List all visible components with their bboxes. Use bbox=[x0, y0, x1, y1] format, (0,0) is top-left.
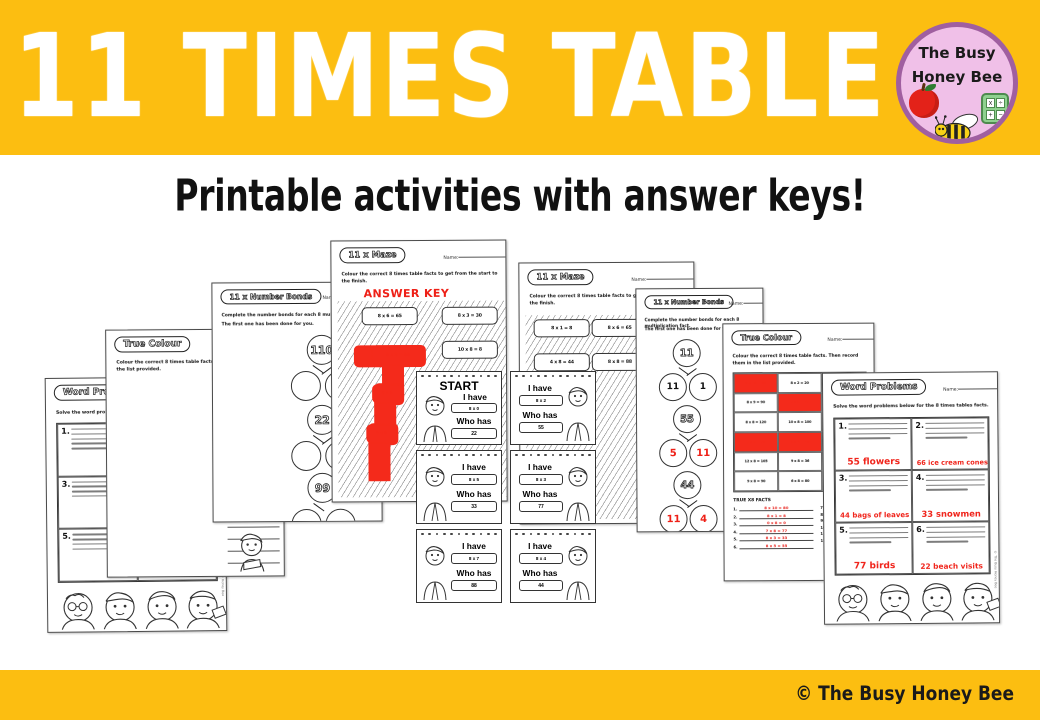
item-number: 2. bbox=[733, 514, 737, 519]
item-number: 3. bbox=[839, 474, 848, 483]
kids-illustration bbox=[58, 586, 226, 630]
who-has-label: Who has bbox=[513, 489, 567, 499]
item-number: 3. bbox=[62, 479, 71, 488]
bond-right-circle[interactable]: 1 bbox=[689, 373, 717, 401]
item-number: 2. bbox=[915, 421, 924, 430]
who-has-label: Who has bbox=[447, 489, 501, 499]
true-facts-list: TRUE X8 FACTS 1. 8 x 10 = 80 2. 8 x 1 = … bbox=[733, 498, 813, 550]
item-answer[interactable]: 8 x 1 = 8 bbox=[739, 512, 813, 518]
calc-key-multiply: x bbox=[986, 98, 995, 108]
maze-fact-box[interactable]: 10 x 8 = 8 bbox=[442, 341, 498, 359]
card-dots bbox=[515, 533, 591, 536]
sheet-title: 11 x Maze bbox=[339, 247, 405, 263]
calc-key-plus: + bbox=[986, 110, 995, 120]
word-problem-item: 6. 22 beach visits bbox=[912, 521, 989, 574]
i-have-value[interactable]: 8 x 4 bbox=[519, 553, 563, 564]
calc-key-minus: − bbox=[996, 110, 1005, 120]
i-have-label: I have bbox=[449, 541, 499, 551]
item-answer[interactable]: 0 x 8 = 0 bbox=[739, 520, 813, 526]
instruction-text: Solve the word problems below for the 8 … bbox=[833, 403, 989, 411]
i-have-card[interactable]: I have 8 x 7 Who has 88 bbox=[416, 529, 502, 603]
list-item: 6. 8 x 5 = 55 bbox=[733, 542, 813, 548]
i-have-label: I have bbox=[515, 383, 565, 393]
word-problem-item: 1. 55 flowers bbox=[834, 418, 911, 471]
list-item: 4. 7 x 8 = 77 bbox=[733, 527, 813, 533]
sheet-title: 11 x Number Bonds bbox=[644, 295, 733, 309]
answer-text: 77 birds bbox=[841, 561, 909, 572]
sheet-title: 11 x Maze bbox=[527, 269, 593, 285]
maze-fact-box-solved[interactable]: 8 x 8 bbox=[366, 424, 396, 443]
word-problem-item: 5. 77 birds bbox=[835, 522, 912, 575]
i-have-value[interactable]: 8 x 7 bbox=[451, 553, 497, 564]
name-field[interactable]: Name: bbox=[943, 387, 1000, 393]
fact-cell-highlighted[interactable]: 8 x 4 = 40 bbox=[778, 432, 822, 452]
answer-text: 66 ice cream cones bbox=[917, 458, 985, 467]
footer-credit: © The Busy Honey Bee bbox=[795, 683, 1014, 706]
maze-fact-box[interactable]: 8 x 3 = 30 bbox=[442, 307, 498, 325]
child-illustration bbox=[563, 465, 593, 521]
i-have-value[interactable]: 8 x 3 bbox=[519, 474, 563, 485]
item-number: 5. bbox=[733, 536, 737, 541]
answer-key-label: ANSWER KEY bbox=[364, 287, 450, 300]
bond-left-circle[interactable] bbox=[291, 371, 321, 401]
i-have-value[interactable]: 8 x 5 bbox=[451, 474, 497, 485]
item-number: 4. bbox=[733, 529, 737, 534]
bond-top-circle[interactable]: 55 bbox=[673, 405, 701, 433]
fact-cell[interactable]: 10 x 8 = 100 bbox=[778, 412, 822, 432]
item-answer[interactable]: 7 x 8 = 77 bbox=[739, 527, 813, 533]
fact-cell[interactable]: 9 x 8 = 36 bbox=[778, 452, 822, 472]
name-label: Name: bbox=[943, 388, 958, 393]
subtitle: Printable activities with answer keys! bbox=[0, 170, 1040, 221]
who-has-value[interactable]: 44 bbox=[519, 580, 563, 591]
card-dots bbox=[421, 454, 497, 457]
i-have-card[interactable]: I have 8 x 3 Who has 77 bbox=[510, 450, 596, 524]
fact-cell-highlighted[interactable]: 8 x 10 = 80 bbox=[734, 373, 778, 393]
fact-cell-highlighted[interactable]: 7 x 8 = 70 bbox=[734, 432, 778, 452]
item-number: 1. bbox=[61, 427, 70, 436]
name-field[interactable]: Name: bbox=[631, 278, 694, 283]
maze-fact-box[interactable]: 4 x 8 = 44 bbox=[534, 353, 590, 371]
item-number: 1. bbox=[838, 422, 847, 431]
who-has-value[interactable]: 77 bbox=[519, 501, 563, 512]
brand-logo: The Busy Honey Bee x ÷ + − bbox=[896, 22, 1018, 144]
maze-fact-box[interactable]: 8 x 6 = 65 bbox=[362, 307, 418, 325]
who-has-label: Who has bbox=[513, 410, 567, 420]
bond-right-circle[interactable] bbox=[326, 509, 356, 523]
start-label: START bbox=[417, 379, 501, 393]
header-banner: 11 TIMES TABLE The Busy Honey Bee x ÷ + … bbox=[0, 0, 1040, 155]
item-answer[interactable]: 8 x 5 = 55 bbox=[740, 542, 814, 548]
i-have-label: I have bbox=[449, 462, 499, 472]
card-dots bbox=[421, 533, 497, 536]
item-number: 6. bbox=[916, 525, 925, 534]
instruction-text: Colour the correct 8 times table facts. … bbox=[732, 354, 868, 368]
sheet-title: True Colour bbox=[114, 336, 190, 353]
child-illustration bbox=[563, 544, 593, 600]
preview-i-have-who-has-cards[interactable]: START I have 8 x 0 Who has 22 I have 8 x… bbox=[416, 371, 596, 601]
bond-left-circle[interactable]: 5 bbox=[659, 439, 687, 467]
item-number: 1. bbox=[733, 506, 737, 511]
fact-cell[interactable]: 8 x 9 = 90 bbox=[734, 393, 778, 413]
who-has-value[interactable]: 33 bbox=[451, 501, 497, 512]
item-number: 3. bbox=[733, 521, 737, 526]
maze-fact-box-solved[interactable]: 9 x 8 bbox=[372, 384, 402, 403]
word-problem-item: 2. 66 ice cream cones bbox=[911, 417, 988, 470]
who-has-value[interactable]: 22 bbox=[451, 428, 497, 439]
list-item: 5. 8 x 3 = 33 bbox=[733, 535, 813, 541]
i-have-card[interactable]: I have 8 x 2 Who has 55 bbox=[510, 371, 596, 445]
word-problem-grid: 1. 55 flowers 2. 66 ice cream cones 3. 4… bbox=[833, 416, 990, 575]
who-has-label: Who has bbox=[447, 416, 501, 426]
bond-left-circle[interactable] bbox=[291, 441, 321, 471]
list-item: 3. 0 x 8 = 0 bbox=[733, 520, 813, 526]
who-has-label: Who has bbox=[513, 568, 567, 578]
answer-text: 55 flowers bbox=[840, 457, 908, 468]
sheet-title: 11 x Number Bonds bbox=[220, 289, 321, 305]
i-have-value[interactable]: 8 x 0 bbox=[451, 403, 497, 413]
item-number: 5. bbox=[62, 532, 71, 541]
kids-illustration bbox=[833, 578, 1000, 621]
sheet-credit: © The Busy Honey Bee bbox=[993, 550, 997, 588]
name-field[interactable]: Name: bbox=[443, 256, 506, 261]
i-have-label: I have bbox=[451, 392, 499, 402]
i-have-value[interactable]: 8 x 2 bbox=[519, 395, 563, 406]
bond-link bbox=[313, 503, 324, 512]
list-item: 2. 8 x 1 = 8 bbox=[733, 512, 813, 518]
fact-cell[interactable]: 8 x 8 = 120 bbox=[734, 412, 778, 432]
item-number: 4. bbox=[916, 473, 925, 482]
i-have-label: I have bbox=[515, 462, 565, 472]
i-have-card[interactable]: I have 8 x 5 Who has 33 bbox=[416, 450, 502, 524]
fact-cell[interactable]: 9 x 8 = 90 bbox=[734, 471, 778, 491]
name-label: Name: bbox=[728, 302, 743, 307]
answer-text: 22 beach visits bbox=[918, 561, 986, 571]
bond-top-circle[interactable]: 44 bbox=[673, 471, 701, 499]
bond-left-circle[interactable] bbox=[292, 509, 322, 523]
calc-key-divide: ÷ bbox=[996, 98, 1005, 108]
item-number: 5. bbox=[839, 526, 848, 535]
answer-text: 44 bags of leaves bbox=[840, 511, 908, 520]
logo-text-line-2: Honey Bee bbox=[901, 68, 1013, 86]
word-problem-item: 4. 33 snowmen bbox=[912, 469, 989, 522]
i-have-label: I have bbox=[515, 541, 565, 551]
child-illustration bbox=[563, 385, 593, 441]
page-title: 11 TIMES TABLE bbox=[0, 1, 909, 151]
preview-word-problems-answer-key[interactable]: Word Problems Name: Solve the word probl… bbox=[822, 371, 1000, 625]
item-answer[interactable]: 8 x 10 = 80 bbox=[739, 505, 813, 511]
name-label: Name: bbox=[631, 278, 646, 283]
instruction-text: Colour the correct 8 times table facts t… bbox=[341, 272, 499, 286]
item-answer[interactable]: 8 x 3 = 33 bbox=[740, 535, 814, 541]
footer-banner: © The Busy Honey Bee bbox=[0, 670, 1040, 720]
word-problem-item: 3. 44 bags of leaves bbox=[835, 470, 912, 523]
i-have-card[interactable]: I have 8 x 4 Who has 44 bbox=[510, 529, 596, 603]
logo-text-line-1: The Busy bbox=[901, 44, 1013, 62]
girl-reading-illustration bbox=[232, 531, 278, 571]
name-field[interactable]: Name: bbox=[728, 302, 764, 307]
child-illustration bbox=[420, 465, 450, 521]
list-heading: TRUE X8 FACTS bbox=[733, 498, 813, 503]
sheet-title: Word Problems bbox=[831, 379, 927, 396]
card-dots bbox=[421, 375, 497, 378]
bond-right-circle[interactable]: 4 bbox=[689, 505, 717, 532]
bond-top-circle[interactable]: 11 bbox=[673, 339, 701, 367]
answer-text: 33 snowmen bbox=[917, 508, 985, 519]
bond-left-circle[interactable]: 11 bbox=[659, 373, 687, 401]
bond-left-circle[interactable]: 11 bbox=[659, 505, 687, 532]
item-number: 6. bbox=[733, 544, 737, 549]
list-item: 1. 8 x 10 = 80 bbox=[733, 505, 813, 511]
child-illustration bbox=[420, 394, 450, 442]
fact-cell-highlighted[interactable]: 7 x 8 = 77 bbox=[778, 393, 822, 413]
maze-fact-box[interactable]: 8 x 1 = 8 bbox=[534, 319, 590, 337]
bond-right-circle[interactable]: 11 bbox=[689, 439, 717, 467]
i-have-card[interactable]: START I have 8 x 0 Who has 22 bbox=[416, 371, 502, 445]
who-has-label: Who has bbox=[447, 568, 501, 578]
who-has-value[interactable]: 55 bbox=[519, 422, 563, 433]
sheet-title: True Colour bbox=[731, 330, 801, 345]
maze-solution-path bbox=[368, 441, 390, 481]
card-dots bbox=[515, 454, 591, 457]
name-label: Name: bbox=[443, 256, 458, 261]
who-has-value[interactable]: 88 bbox=[451, 580, 497, 591]
card-dots bbox=[515, 375, 591, 378]
name-field[interactable]: Name: bbox=[827, 338, 875, 343]
child-illustration bbox=[420, 544, 450, 600]
name-label: Name: bbox=[827, 338, 842, 343]
bee-icon bbox=[935, 107, 987, 144]
maze-fact-box-solved[interactable]: 8 x 8 = 88 bbox=[372, 345, 424, 365]
fact-cell[interactable]: 8 x 2 = 20 bbox=[778, 373, 822, 393]
fact-cell[interactable]: 6 x 8 = 80 bbox=[778, 471, 822, 491]
fact-cell[interactable]: 12 x 8 = 105 bbox=[734, 452, 778, 472]
